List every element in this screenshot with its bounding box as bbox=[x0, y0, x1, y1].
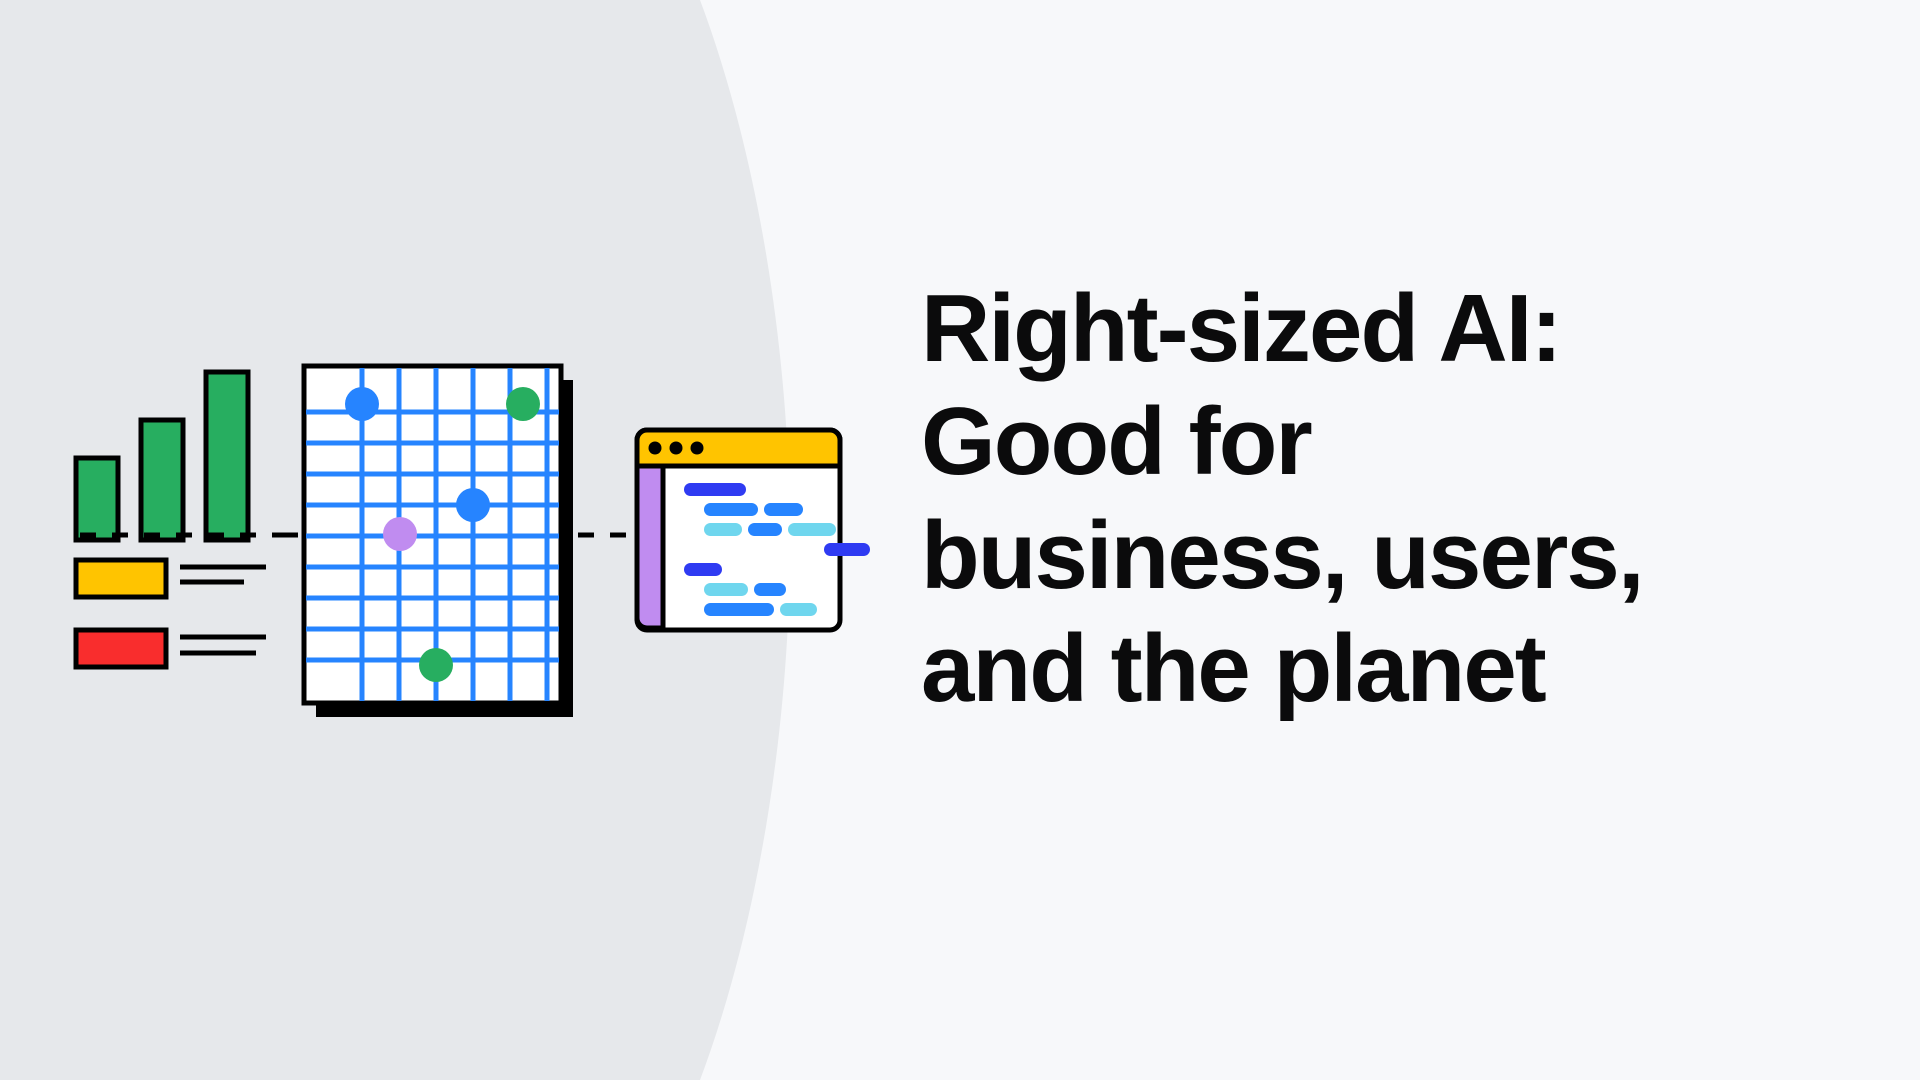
point-green-1 bbox=[506, 387, 540, 421]
headline-line-3: business, users, bbox=[921, 499, 1821, 612]
code-pill bbox=[704, 603, 774, 616]
headline-line-4: and the planet bbox=[921, 612, 1821, 725]
code-pill bbox=[704, 523, 742, 536]
code-pill bbox=[684, 483, 746, 496]
window-dot-close-icon[interactable] bbox=[649, 442, 662, 455]
headline-line-1: Right-sized AI: bbox=[921, 272, 1821, 385]
code-pill bbox=[704, 503, 758, 516]
bar-chart bbox=[76, 372, 248, 540]
code-pill bbox=[754, 583, 786, 596]
illustration-svg bbox=[0, 0, 900, 1080]
headline-line-2: Good for bbox=[921, 385, 1821, 498]
page-title: Right-sized AI: Good for business, users… bbox=[921, 272, 1821, 725]
code-pill bbox=[788, 523, 836, 536]
window-dot-minimize-icon[interactable] bbox=[670, 442, 683, 455]
code-pill bbox=[764, 503, 803, 516]
point-purple-1 bbox=[383, 517, 417, 551]
scatter-grid-card bbox=[304, 366, 573, 717]
window-dot-maximize-icon[interactable] bbox=[691, 442, 704, 455]
legend-swatch-red bbox=[76, 630, 166, 667]
legend bbox=[76, 560, 266, 667]
code-pill bbox=[748, 523, 782, 536]
code-window bbox=[637, 430, 870, 630]
bar-2 bbox=[141, 420, 183, 540]
code-window-sidebar bbox=[637, 466, 663, 628]
code-pill bbox=[684, 563, 722, 576]
legend-swatch-yellow bbox=[76, 560, 166, 597]
point-blue-1 bbox=[345, 387, 379, 421]
illustration bbox=[0, 0, 900, 1080]
hero-banner: Right-sized AI: Good for business, users… bbox=[0, 0, 1920, 1080]
code-pill bbox=[824, 543, 870, 556]
code-pill bbox=[780, 603, 817, 616]
bar-3 bbox=[206, 372, 248, 540]
code-window-titlebar bbox=[637, 430, 840, 466]
bar-1 bbox=[76, 458, 118, 540]
point-green-2 bbox=[419, 648, 453, 682]
code-pill bbox=[704, 583, 748, 596]
point-blue-2 bbox=[456, 488, 490, 522]
